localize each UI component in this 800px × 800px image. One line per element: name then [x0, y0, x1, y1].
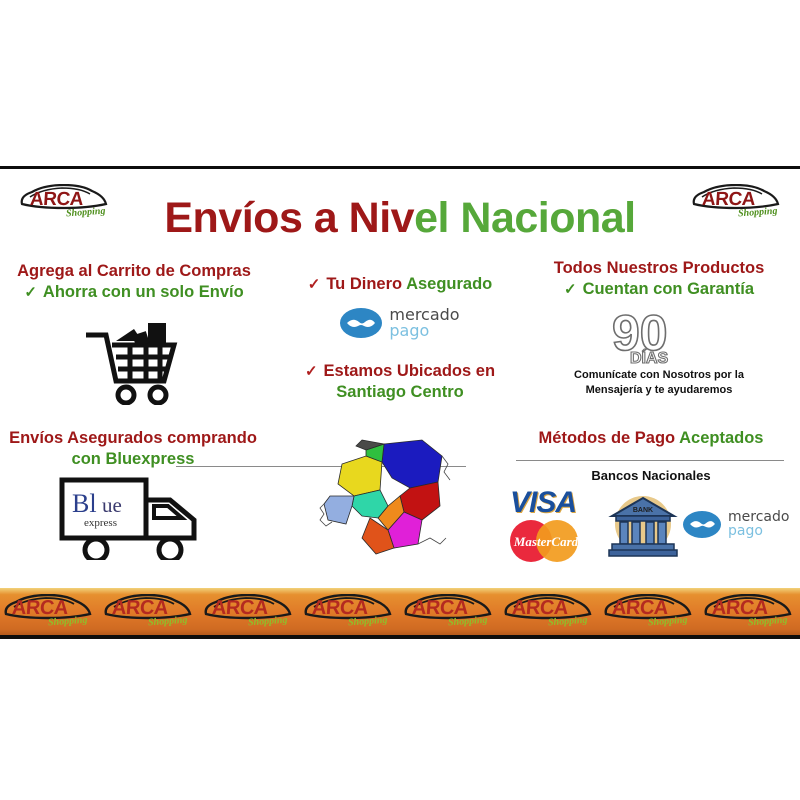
contact-note-line2: Mensajería y te ayudaremos: [528, 383, 790, 398]
bluexpress-heading: Envíos Asegurados comprando: [8, 428, 258, 449]
cart-heading: Agrega al Carrito de Compras: [8, 261, 260, 282]
arca-tagline: Shopping: [348, 614, 388, 628]
arca-tagline: Shopping: [648, 614, 688, 628]
visa-logo: VISA: [510, 486, 576, 520]
check-icon: ✓: [24, 284, 37, 301]
handshake-icon: [340, 308, 382, 338]
brand-footer-logo-row: ARCAShoppingARCAShoppingARCAShoppingARCA…: [0, 588, 800, 635]
feature-column-warranty: Todos Nuestros Productos ✓Cuentan con Ga…: [528, 258, 790, 398]
check-icon: ✓: [308, 276, 321, 293]
arca-logo-strip: ARCAShopping: [700, 592, 800, 632]
contact-note: Comunícate con Nosotros por la Mensajerí…: [528, 368, 790, 398]
mercadopago-word2: pago: [728, 524, 789, 538]
money-secure-text-green: Asegurado: [406, 275, 492, 293]
mercadopago-logo: mercado pago: [340, 307, 459, 339]
arca-logo-strip: ARCAShopping: [100, 592, 200, 632]
feature-column-payment: ✓Tu Dinero Asegurado mercado pago: [274, 274, 526, 404]
handshake-glyph: [346, 314, 376, 332]
arca-logo-strip: ARCAShopping: [200, 592, 300, 632]
handshake-glyph: [689, 516, 716, 532]
days-unit: DÍAS: [630, 348, 669, 366]
brand-footer-strip: ARCAShoppingARCAShoppingARCAShoppingARCA…: [0, 588, 800, 635]
bluexpress-truck-wrap: Bl ue express: [58, 474, 226, 565]
location-subheading: Santiago Centro: [274, 382, 526, 403]
bank-icon-wrap: BANK: [608, 492, 678, 563]
payment-logos-row: VISA MasterCard: [498, 486, 798, 561]
arca-tagline: Shopping: [548, 614, 588, 628]
shopping-cart-icon: [82, 319, 186, 405]
mercadopago-word1: mercado: [728, 510, 789, 524]
bluexpress-brand-part1: Bl: [72, 489, 97, 518]
location-heading: Estamos Ubicados en: [324, 362, 495, 380]
arca-logo-strip: ARCAShopping: [400, 592, 500, 632]
title-part-green: el Nacional: [414, 194, 636, 242]
arca-logo-strip: ARCAShopping: [500, 592, 600, 632]
cart-subheading-row: ✓Ahorra con un solo Envío: [8, 282, 260, 303]
title-part-red: Envíos a Niv: [164, 194, 414, 242]
arca-tagline: Shopping: [48, 614, 88, 628]
check-icon: ✓: [305, 363, 318, 380]
cart-subheading: Ahorra con un solo Envío: [43, 283, 244, 301]
contact-note-line1: Comunícate con Nosotros por la: [528, 368, 790, 383]
ninety-days-icon: 90 DÍAS: [596, 304, 722, 366]
mercadopago-wordmark: mercado pago: [728, 510, 789, 538]
arca-logo-strip: ARCAShopping: [600, 592, 700, 632]
payment-heading-green: Aceptados: [679, 429, 763, 447]
mercadopago-logo-payment: mercado pago: [683, 510, 789, 538]
banner-frame: ARCA Shopping ARCA Shopping Envíos a Niv…: [0, 166, 800, 639]
bottom-divider-line: [0, 635, 800, 639]
santiago-region-map-wrap: [318, 438, 452, 567]
warranty-subheading: Cuentan con Garantía: [583, 280, 754, 298]
bluexpress-brand-part2: ue: [102, 493, 122, 517]
warranty-days-badge: 90 DÍAS: [528, 304, 790, 366]
bank-icon: BANK: [608, 492, 678, 558]
arca-tagline: Shopping: [148, 614, 188, 628]
handshake-icon: [683, 511, 721, 538]
mastercard-logo: MasterCard: [510, 520, 610, 562]
promo-banner-canvas: ARCA Shopping ARCA Shopping Envíos a Niv…: [0, 0, 800, 800]
payment-heading-row: Métodos de Pago Aceptados: [520, 428, 782, 449]
check-icon: ✓: [564, 281, 577, 298]
warranty-subheading-row: ✓Cuentan con Garantía: [528, 279, 790, 300]
warranty-heading: Todos Nuestros Productos: [528, 258, 790, 279]
location-heading-row: ✓Estamos Ubicados en: [274, 361, 526, 382]
chile-santiago-region-map: [318, 438, 452, 562]
payment-heading-red: Métodos de Pago: [539, 429, 676, 447]
bluexpress-brand-sub: express: [84, 517, 117, 529]
money-secure-row: ✓Tu Dinero Asegurado: [274, 274, 526, 295]
shipping-insurance-block: Envíos Asegurados comprando con Bluexpre…: [8, 428, 258, 470]
arca-tagline: Shopping: [748, 614, 788, 628]
mastercard-wordmark: MasterCard: [510, 534, 582, 550]
divider-right: [516, 460, 784, 461]
banks-label: Bancos Nacionales: [520, 468, 782, 483]
mercadopago-word2: pago: [389, 323, 459, 339]
feature-column-cart: Agrega al Carrito de Compras ✓Ahorra con…: [8, 261, 260, 405]
arca-logo-strip: ARCAShopping: [300, 592, 400, 632]
top-divider-line: [0, 166, 800, 169]
mercadopago-wordmark: mercado pago: [389, 307, 459, 339]
delivery-truck-icon: Bl ue express: [58, 474, 226, 560]
mercadopago-logo-wrap: mercado pago: [274, 307, 526, 339]
shopping-cart-icon-wrap: [8, 319, 260, 405]
arca-tagline: Shopping: [448, 614, 488, 628]
money-secure-text-red: Tu Dinero: [326, 275, 402, 293]
page-title: Envíos a Nivel Nacional: [0, 194, 800, 243]
arca-tagline: Shopping: [248, 614, 288, 628]
arca-logo-strip: ARCAShopping: [0, 592, 100, 632]
bank-label: BANK: [633, 507, 653, 514]
payment-methods-block: Métodos de Pago Aceptados: [520, 428, 782, 449]
